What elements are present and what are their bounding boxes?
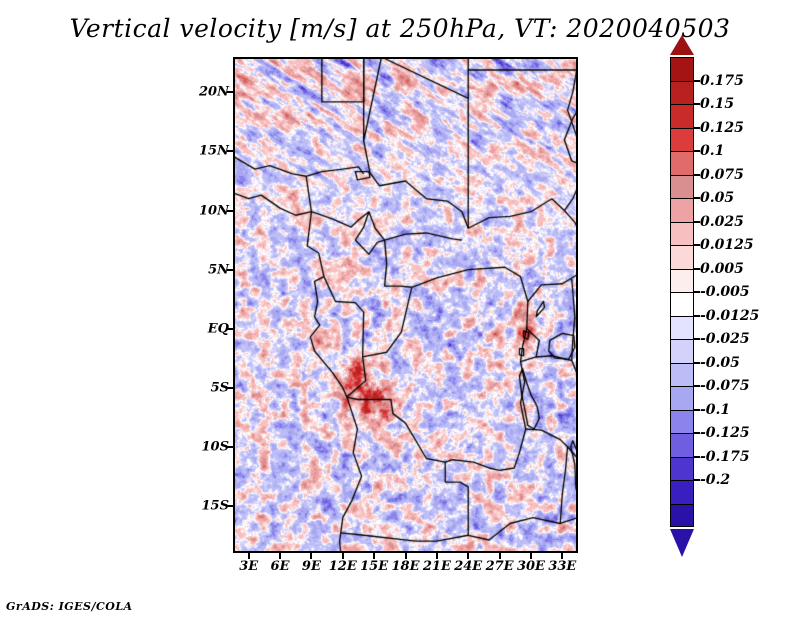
colorbar-tick [694,385,700,387]
grads-credit: GrADS: IGES/COLA [6,600,133,613]
y-axis-tick-label: 15S [202,498,229,513]
colorbar-segment [670,339,694,363]
x-axis-tick-label: 18E [392,559,420,574]
colorbar-tick [694,103,700,105]
colorbar-segment [670,457,694,481]
colorbar-segment [670,292,694,316]
colorbar-segment [670,198,694,222]
colorbar-segment [670,316,694,340]
y-axis-tick-label: 10N [199,203,229,218]
colorbar-segment [670,386,694,410]
x-axis-tick-label: 9E [302,559,321,574]
colorbar-arrow-top [670,35,694,55]
colorbar-label: -0.005 [700,284,750,300]
colorbar-segment [670,151,694,175]
colorbar-tick [694,362,700,364]
x-axis-tick-mark [342,553,344,559]
x-axis-tick-mark [530,553,532,559]
colorbar-segment [670,504,694,528]
y-axis-tick-label: 5N [208,262,229,277]
colorbar-tick [694,150,700,152]
colorbar-arrow-bottom [670,529,694,557]
colorbar-tick [694,338,700,340]
colorbar-label: -0.075 [700,378,750,394]
x-axis-tick-label: 27E [486,559,514,574]
colorbar-label: 0.025 [700,214,744,230]
x-axis-tick-label: 24E [454,559,482,574]
colorbar-label: 0.1 [700,143,724,159]
plot-frame [233,57,578,553]
colorbar-segment [670,245,694,269]
colorbar-segment [670,222,694,246]
colorbar-label: 0.15 [700,96,734,112]
x-axis-tick-mark [310,553,312,559]
x-axis-tick-mark [436,553,438,559]
x-axis-tick-mark [248,553,250,559]
x-axis-tick-label: 15E [360,559,388,574]
colorbar-label: -0.1 [700,402,730,418]
colorbar-label: -0.0125 [700,308,759,324]
colorbar-label: 0.075 [700,167,744,183]
x-axis-tick-mark [499,553,501,559]
colorbar-label: 0.05 [700,190,734,206]
colorbar-segment [670,269,694,293]
colorbar-segment [670,57,694,81]
x-axis-tick-label: 6E [271,559,290,574]
colorbar-tick [694,127,700,129]
colorbar[interactable]: 0.1750.150.1250.10.0750.050.0250.01250.0… [670,57,694,527]
x-axis-tick-label: 3E [239,559,258,574]
colorbar-label: -0.05 [700,355,740,371]
colorbar-label: 0.125 [700,120,744,136]
colorbar-label: 0.005 [700,261,744,277]
x-axis-tick-mark [467,553,469,559]
x-axis-tick-label: 12E [329,559,357,574]
colorbar-label: -0.125 [700,425,750,441]
colorbar-segment [670,480,694,504]
y-axis-tick-label: 15N [199,144,229,159]
colorbar-tick [694,174,700,176]
colorbar-segment [670,128,694,152]
colorbar-tick [694,80,700,82]
colorbar-segment [670,410,694,434]
x-axis-tick-label: 33E [548,559,576,574]
colorbar-segment [670,363,694,387]
y-axis-tick-label: EQ [208,321,229,336]
colorbar-tick [694,479,700,481]
colorbar-segment [670,175,694,199]
x-axis-tick-label: 21E [423,559,451,574]
colorbar-label: 0.0125 [700,237,754,253]
colorbar-label: -0.2 [700,472,730,488]
colorbar-tick [694,315,700,317]
colorbar-segment [670,433,694,457]
x-axis-tick-label: 30E [517,559,545,574]
colorbar-segment [670,81,694,105]
colorbar-tick [694,291,700,293]
colorbar-tick [694,221,700,223]
colorbar-tick [694,432,700,434]
colorbar-tick [694,409,700,411]
x-axis-tick-mark [561,553,563,559]
x-axis-tick-mark [405,553,407,559]
y-axis-tick-label: 20N [199,85,229,100]
colorbar-tick [694,268,700,270]
colorbar-tick [694,456,700,458]
colorbar-label: 0.175 [700,73,744,89]
map-plot: 20N15N10N5NEQ5S10S15S3E6E9E12E15E18E21E2… [233,57,578,553]
x-axis-tick-mark [373,553,375,559]
colorbar-segment [670,104,694,128]
x-axis-tick-mark [279,553,281,559]
colorbar-tick [694,197,700,199]
colorbar-tick [694,244,700,246]
y-axis-tick-label: 10S [202,439,229,454]
colorbar-label: -0.175 [700,449,750,465]
colorbar-label: -0.025 [700,331,750,347]
